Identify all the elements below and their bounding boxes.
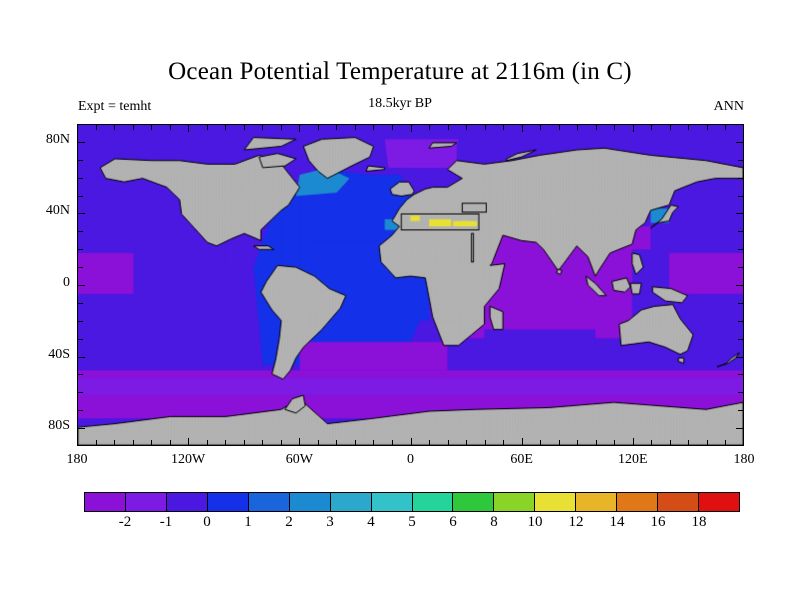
x-tick — [725, 125, 726, 130]
x-axis-tick-label: 120E — [593, 452, 673, 468]
x-tick — [207, 440, 208, 445]
y-tick — [736, 142, 743, 143]
colorbar-segment-4 — [249, 493, 290, 511]
y-tick — [78, 321, 83, 322]
colorbar-segment-1 — [126, 493, 167, 511]
x-tick — [485, 125, 486, 130]
colorbar-tick-label: 1 — [228, 514, 268, 531]
x-tick — [411, 438, 412, 445]
x-tick — [577, 125, 578, 130]
x-tick — [207, 125, 208, 130]
x-axis-tick-label: 60E — [482, 452, 562, 468]
x-tick — [318, 440, 319, 445]
y-axis-tick-label: 80N — [14, 132, 70, 148]
x-tick — [651, 440, 652, 445]
colorbar-segment-12 — [576, 493, 617, 511]
colorbar-tick-label: 2 — [269, 514, 309, 531]
colorbar-segment-3 — [208, 493, 249, 511]
x-tick — [411, 125, 412, 132]
x-tick — [485, 440, 486, 445]
period-label: 18.5kyr BP — [0, 96, 800, 112]
colorbar-tick-label: -1 — [146, 514, 186, 531]
y-tick — [736, 213, 743, 214]
x-tick — [466, 125, 467, 130]
colorbar-segment-6 — [331, 493, 372, 511]
x-tick — [466, 440, 467, 445]
x-tick — [299, 125, 300, 132]
figure: Ocean Potential Temperature at 2116m (in… — [0, 0, 800, 600]
y-tick — [78, 142, 85, 143]
x-tick — [96, 125, 97, 130]
x-tick — [448, 440, 449, 445]
colorbar-tick-label: 14 — [597, 514, 637, 531]
x-tick — [281, 125, 282, 130]
x-axis-tick-label: 0 — [371, 452, 451, 468]
colorbar-segment-8 — [413, 493, 454, 511]
x-tick — [336, 125, 337, 130]
colorbar-segment-15 — [699, 493, 739, 511]
x-axis-tick-label: 60W — [259, 452, 339, 468]
y-tick — [78, 178, 83, 179]
colorbar-segment-7 — [372, 493, 413, 511]
x-tick — [670, 440, 671, 445]
y-axis-tick-label: 0 — [14, 275, 70, 291]
x-tick — [281, 440, 282, 445]
y-tick — [78, 339, 83, 340]
x-tick — [633, 125, 634, 132]
y-tick — [736, 357, 743, 358]
x-tick — [336, 440, 337, 445]
colorbar-segment-10 — [494, 493, 535, 511]
x-tick — [170, 125, 171, 130]
x-tick — [707, 440, 708, 445]
x-tick — [614, 125, 615, 130]
colorbar-tick-label: 10 — [515, 514, 555, 531]
y-tick — [78, 267, 83, 268]
y-tick — [738, 321, 743, 322]
y-tick — [738, 339, 743, 340]
x-tick — [133, 440, 134, 445]
x-tick — [707, 125, 708, 130]
colorbar-tick-label: 3 — [310, 514, 350, 531]
x-tick — [577, 440, 578, 445]
colorbar-segment-14 — [658, 493, 699, 511]
y-tick — [738, 249, 743, 250]
y-tick — [738, 267, 743, 268]
y-tick — [738, 410, 743, 411]
x-tick — [725, 440, 726, 445]
y-tick — [738, 160, 743, 161]
colorbar-tick-label: 18 — [679, 514, 719, 531]
x-tick — [133, 125, 134, 130]
colorbar-segment-9 — [453, 493, 494, 511]
colorbar-tick-label: 12 — [556, 514, 596, 531]
x-tick — [392, 440, 393, 445]
y-tick — [738, 231, 743, 232]
page-title: Ocean Potential Temperature at 2116m (in… — [0, 58, 800, 86]
colorbar-segment-13 — [617, 493, 658, 511]
x-tick — [188, 125, 189, 132]
colorbar-tick-label: 16 — [638, 514, 678, 531]
colorbar-segment-2 — [167, 493, 208, 511]
x-tick — [151, 125, 152, 130]
x-tick — [448, 125, 449, 130]
y-axis-tick-label: 80S — [14, 418, 70, 434]
map-plot-area — [77, 124, 744, 446]
y-tick — [738, 303, 743, 304]
y-axis-tick-label: 40S — [14, 347, 70, 363]
x-tick — [688, 440, 689, 445]
y-tick — [78, 231, 83, 232]
x-tick — [596, 125, 597, 130]
x-tick — [244, 125, 245, 130]
colorbar-tick-label: 8 — [474, 514, 514, 531]
x-tick — [522, 438, 523, 445]
y-tick — [78, 428, 85, 429]
x-tick — [373, 125, 374, 130]
x-axis-tick-label: 180 — [704, 452, 784, 468]
x-tick — [262, 440, 263, 445]
x-tick — [429, 440, 430, 445]
x-tick — [151, 440, 152, 445]
x-tick — [244, 440, 245, 445]
x-tick — [559, 440, 560, 445]
x-tick — [429, 125, 430, 130]
y-axis-tick-label: 40N — [14, 203, 70, 219]
x-tick — [503, 125, 504, 130]
colorbar-segment-0 — [85, 493, 126, 511]
y-tick — [78, 357, 85, 358]
colorbar-segment-5 — [290, 493, 331, 511]
x-tick — [318, 125, 319, 130]
x-tick — [299, 438, 300, 445]
x-tick — [96, 440, 97, 445]
x-tick — [540, 125, 541, 130]
colorbar-tick-label: -2 — [105, 514, 145, 531]
y-tick — [78, 285, 85, 286]
x-axis-tick-label: 180 — [37, 452, 117, 468]
y-tick — [78, 410, 83, 411]
ocean-temperature-heatmap — [78, 125, 743, 445]
x-tick — [373, 440, 374, 445]
x-tick — [688, 125, 689, 130]
season-label: ANN — [714, 99, 744, 115]
x-tick — [114, 440, 115, 445]
x-tick — [670, 125, 671, 130]
y-tick — [78, 374, 83, 375]
y-tick — [78, 249, 83, 250]
x-tick — [114, 125, 115, 130]
y-tick — [736, 285, 743, 286]
colorbar-segment-11 — [535, 493, 576, 511]
x-tick — [540, 440, 541, 445]
y-tick — [78, 213, 85, 214]
colorbar-tick-label: 4 — [351, 514, 391, 531]
x-axis-tick-label: 120W — [148, 452, 228, 468]
x-tick — [651, 125, 652, 130]
y-tick — [78, 303, 83, 304]
x-tick — [355, 125, 356, 130]
x-tick — [522, 125, 523, 132]
colorbar-tick-label: 5 — [392, 514, 432, 531]
x-tick — [355, 440, 356, 445]
colorbar-tick-label: 6 — [433, 514, 473, 531]
colorbar-tick-label: 0 — [187, 514, 227, 531]
x-tick — [633, 438, 634, 445]
y-tick — [78, 160, 83, 161]
y-tick — [78, 196, 83, 197]
x-tick — [559, 125, 560, 130]
y-tick — [738, 178, 743, 179]
x-tick — [225, 125, 226, 130]
y-tick — [78, 392, 83, 393]
x-tick — [225, 440, 226, 445]
y-tick — [736, 428, 743, 429]
x-tick — [170, 440, 171, 445]
x-tick — [262, 125, 263, 130]
x-tick — [392, 125, 393, 130]
colorbar — [84, 492, 740, 512]
x-tick — [188, 438, 189, 445]
x-tick — [503, 440, 504, 445]
x-tick — [614, 440, 615, 445]
y-tick — [738, 196, 743, 197]
y-tick — [738, 374, 743, 375]
x-tick — [596, 440, 597, 445]
y-tick — [738, 392, 743, 393]
